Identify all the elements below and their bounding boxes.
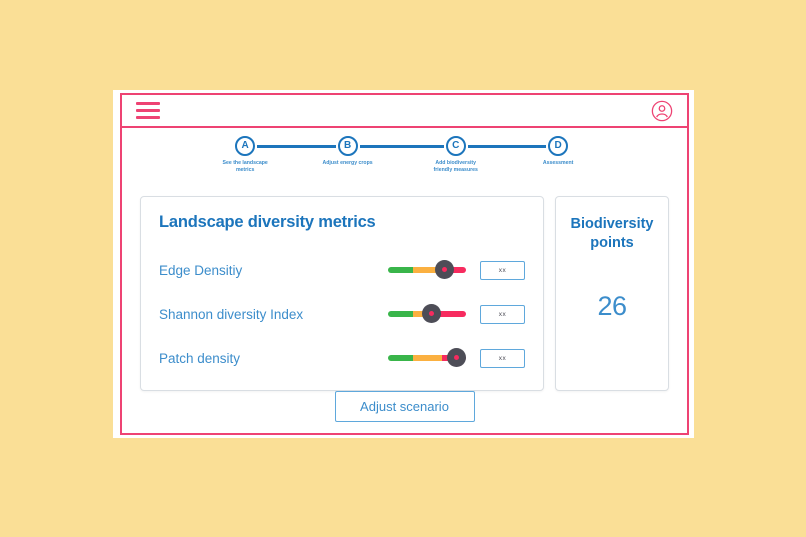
hamburger-menu-icon[interactable] (136, 102, 160, 120)
landscape-metrics-card: Landscape diversity metrics Edge Densiti… (140, 196, 544, 391)
hamburger-bar (136, 109, 160, 112)
biodiversity-points-panel: Biodiversity points 26 (555, 196, 669, 391)
stepper-step-d[interactable]: DAssessment (513, 136, 603, 167)
slider-track (388, 267, 466, 273)
step-label: Assessment (531, 160, 585, 167)
metrics-list: Edge DensitiyxxShannon diversity Indexxx… (159, 248, 525, 380)
stepper-step-c[interactable]: CAdd biodiversity friendly measures (411, 136, 501, 174)
stepper-step-a[interactable]: ASee the landscape metrics (200, 136, 290, 174)
step-badge: C (446, 136, 466, 156)
step-label: See the landscape metrics (218, 160, 272, 174)
hamburger-bar (136, 116, 160, 119)
step-badge: A (235, 136, 255, 156)
user-account-icon[interactable] (651, 100, 673, 122)
metric-label: Patch density (159, 351, 388, 366)
metric-slider[interactable] (388, 348, 466, 368)
biodiversity-points-title: Biodiversity points (566, 215, 658, 253)
slider-thumb[interactable] (422, 304, 441, 323)
progress-stepper: ASee the landscape metricsBAdjust energy… (120, 136, 689, 196)
metric-slider[interactable] (388, 304, 466, 324)
app-header (120, 93, 689, 128)
step-label: Adjust energy crops (321, 160, 375, 167)
slider-thumb[interactable] (435, 260, 454, 279)
footer-area: Adjust scenario (120, 391, 689, 422)
stepper-step-b[interactable]: BAdjust energy crops (303, 136, 393, 167)
metric-value-box[interactable]: xx (480, 305, 525, 324)
application-window: ASee the landscape metricsBAdjust energy… (113, 90, 694, 438)
metrics-card-title: Landscape diversity metrics (159, 213, 525, 232)
hamburger-bar (136, 102, 160, 105)
metric-row: Patch densityxx (159, 336, 525, 380)
step-badge: B (338, 136, 358, 156)
slider-segment-orange (413, 355, 442, 361)
adjust-scenario-button[interactable]: Adjust scenario (335, 391, 475, 422)
step-badge: D (548, 136, 568, 156)
metric-row: Edge Densitiyxx (159, 248, 525, 292)
slider-segment-green (388, 267, 413, 273)
metric-slider[interactable] (388, 260, 466, 280)
slider-segment-green (388, 355, 413, 361)
metric-label: Shannon diversity Index (159, 307, 388, 322)
metric-value-box[interactable]: xx (480, 349, 525, 368)
slider-thumb[interactable] (447, 348, 466, 367)
biodiversity-points-value: 26 (566, 291, 658, 322)
step-label: Add biodiversity friendly measures (429, 160, 483, 174)
metric-row: Shannon diversity Indexxx (159, 292, 525, 336)
slider-segment-green (388, 311, 413, 317)
metric-label: Edge Densitiy (159, 263, 388, 278)
content-row: Landscape diversity metrics Edge Densiti… (120, 196, 689, 391)
metric-value-box[interactable]: xx (480, 261, 525, 280)
